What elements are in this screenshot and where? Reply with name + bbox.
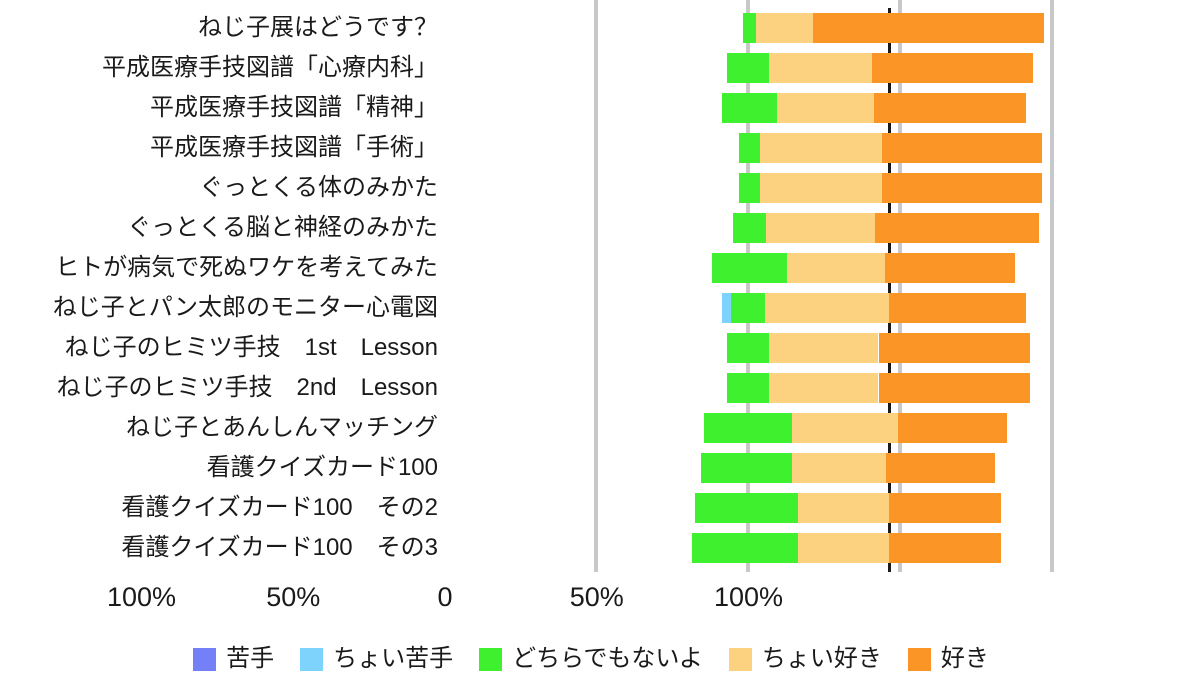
category-label: 平成医療手技図譜「手術」 <box>0 128 438 168</box>
bar-segment-どちらでもないよ[interactable] <box>731 293 764 323</box>
bar-track <box>445 213 1053 243</box>
x-tick-label: 100% <box>679 580 819 614</box>
bar-segment-ちょい好き[interactable] <box>760 173 881 203</box>
bar-segment-好き[interactable] <box>886 453 995 483</box>
legend-item[interactable]: 好き <box>908 647 989 671</box>
x-tick-label: 50% <box>527 580 667 614</box>
bar-segment-ちょい好き[interactable] <box>760 133 881 163</box>
bar-segment-ちょい好き[interactable] <box>798 493 889 523</box>
bar-segment-好き[interactable] <box>874 93 1026 123</box>
bar-track <box>445 493 1053 523</box>
bar-segment-好き[interactable] <box>872 53 1033 83</box>
legend-label: 好き <box>941 647 989 671</box>
bar-track <box>445 13 1053 43</box>
x-tick-label: 50% <box>223 580 363 614</box>
bar-segment-どちらでもないよ[interactable] <box>739 133 760 163</box>
bar-segment-好き[interactable] <box>875 213 1039 243</box>
bar-row[interactable] <box>445 528 1053 568</box>
stacked-bar-chart: ねじ子展はどうです？平成医療手技図譜「心療内科」平成医療手技図譜「精神」平成医療… <box>0 0 1182 682</box>
bar-row[interactable] <box>445 368 1053 408</box>
legend-swatch-square <box>300 648 323 671</box>
bar-row[interactable] <box>445 328 1053 368</box>
bar-segment-ちょい好き[interactable] <box>792 453 886 483</box>
bar-row[interactable] <box>445 168 1053 208</box>
bar-segment-どちらでもないよ[interactable] <box>701 453 792 483</box>
bar-track <box>445 413 1053 443</box>
bar-row[interactable] <box>445 48 1053 88</box>
category-label: 平成医療手技図譜「精神」 <box>0 88 438 128</box>
bar-segment-どちらでもないよ[interactable] <box>727 53 769 83</box>
category-label: ねじ子のヒミツ手技 2nd Lesson <box>0 368 438 408</box>
plot-area <box>445 0 1053 572</box>
bar-segment-好き[interactable] <box>882 133 1043 163</box>
bar-track <box>445 373 1053 403</box>
category-label: 看護クイズカード100 その3 <box>0 528 438 568</box>
bar-row[interactable] <box>445 448 1053 488</box>
legend-swatch-square <box>479 648 502 671</box>
bar-segment-どちらでもないよ[interactable] <box>712 253 788 283</box>
bar-track <box>445 173 1053 203</box>
bar-segment-好き[interactable] <box>898 413 1007 443</box>
legend-item[interactable]: 苦手 <box>193 647 274 671</box>
bar-segment-好き[interactable] <box>882 173 1043 203</box>
bar-segment-ちょい好き[interactable] <box>765 293 889 323</box>
bar-track <box>445 333 1053 363</box>
bar-segment-どちらでもないよ[interactable] <box>704 413 792 443</box>
legend-label: ちょい苦手 <box>333 647 453 671</box>
category-label: 看護クイズカード100 <box>0 448 438 488</box>
bar-segment-ちょい好き[interactable] <box>756 13 814 43</box>
bar-track <box>445 93 1053 123</box>
bar-segment-どちらでもないよ[interactable] <box>739 173 760 203</box>
bar-segment-どちらでもないよ[interactable] <box>692 533 798 563</box>
x-tick-label: 100% <box>72 580 212 614</box>
bar-row[interactable] <box>445 288 1053 328</box>
bar-segment-ちょい好き[interactable] <box>792 413 898 443</box>
bar-track <box>445 133 1053 163</box>
category-label: ねじ子とパン太郎のモニター心電図 <box>0 288 438 328</box>
category-label: ねじ子とあんしんマッチング <box>0 408 438 448</box>
bar-segment-ちょい好き[interactable] <box>769 333 878 363</box>
bar-segment-ちょい好き[interactable] <box>766 213 875 243</box>
category-label: 平成医療手技図譜「心療内科」 <box>0 48 438 88</box>
bar-segment-どちらでもないよ[interactable] <box>727 333 769 363</box>
bar-segment-好き[interactable] <box>889 293 1026 323</box>
legend-label: どちらでもないよ <box>512 647 703 671</box>
legend-swatch-square <box>193 648 216 671</box>
bar-row[interactable] <box>445 248 1053 288</box>
bar-segment-どちらでもないよ[interactable] <box>722 93 777 123</box>
category-axis: ねじ子展はどうです？平成医療手技図譜「心療内科」平成医療手技図譜「精神」平成医療… <box>0 0 438 572</box>
bar-track <box>445 533 1053 563</box>
bar-segment-好き[interactable] <box>879 333 1031 363</box>
bar-track <box>445 53 1053 83</box>
bar-track <box>445 253 1053 283</box>
bar-segment-好き[interactable] <box>885 253 1016 283</box>
bar-row[interactable] <box>445 408 1053 448</box>
bar-row[interactable] <box>445 208 1053 248</box>
bar-segment-好き[interactable] <box>879 373 1031 403</box>
bar-segment-好き[interactable] <box>889 533 1001 563</box>
category-label: 看護クイズカード100 その2 <box>0 488 438 528</box>
bar-segment-どちらでもないよ[interactable] <box>733 213 766 243</box>
legend-item[interactable]: どちらでもないよ <box>479 647 703 671</box>
bar-segment-どちらでもないよ[interactable] <box>695 493 798 523</box>
legend-swatch-square <box>908 648 931 671</box>
bar-segment-ちょい好き[interactable] <box>769 53 872 83</box>
bar-segment-好き[interactable] <box>813 13 1044 43</box>
category-label: ねじ子展はどうです？ <box>0 8 438 48</box>
bar-segment-ちょい好き[interactable] <box>798 533 889 563</box>
bar-segment-ちょい苦手[interactable] <box>722 293 731 323</box>
category-label: ぐっとくる脳と神経のみかた <box>0 208 438 248</box>
category-label: ヒトが病気で死ぬワケを考えてみた <box>0 248 438 288</box>
x-tick-label: 0 <box>375 580 515 614</box>
bar-row[interactable] <box>445 88 1053 128</box>
bar-track <box>445 293 1053 323</box>
x-axis: 100%50%050%100% <box>0 580 1182 620</box>
chart-legend: 苦手ちょい苦手どちらでもないよちょい好き好き <box>0 636 1182 682</box>
bar-segment-ちょい好き[interactable] <box>777 93 874 123</box>
bar-segment-どちらでもないよ[interactable] <box>727 373 769 403</box>
legend-swatch-square <box>729 648 752 671</box>
legend-label: ちょい好き <box>762 647 882 671</box>
bar-track <box>445 453 1053 483</box>
legend-label: 苦手 <box>226 647 274 671</box>
legend-item[interactable]: ちょい好き <box>729 647 882 671</box>
bar-row[interactable] <box>445 8 1053 48</box>
category-label: ぐっとくる体のみかた <box>0 168 438 208</box>
category-label: ねじ子のヒミツ手技 1st Lesson <box>0 328 438 368</box>
bar-segment-ちょい好き[interactable] <box>769 373 878 403</box>
bar-segment-ちょい好き[interactable] <box>787 253 884 283</box>
bar-segment-どちらでもないよ[interactable] <box>743 13 755 43</box>
bar-row[interactable] <box>445 488 1053 528</box>
bar-segment-好き[interactable] <box>889 493 1001 523</box>
bar-row[interactable] <box>445 128 1053 168</box>
legend-item[interactable]: ちょい苦手 <box>300 647 453 671</box>
